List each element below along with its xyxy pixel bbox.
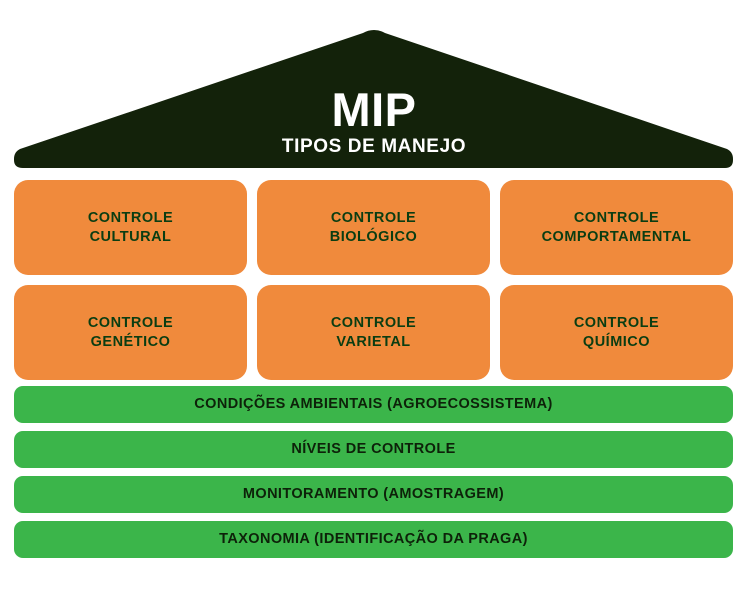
bar-label: TAXONOMIA (IDENTIFICAÇÃO DA PRAGA) [219,532,528,548]
mip-infographic: MIP TIPOS DE MANEJO CONTROLE CULTURAL CO… [0,0,748,600]
card-label: CONTROLE COMPORTAMENTAL [542,209,692,247]
card-label: CONTROLE BIOLÓGICO [330,209,417,247]
card-controle-varietal[interactable]: CONTROLE VARIETAL [257,285,490,380]
bar-taxonomia[interactable]: TAXONOMIA (IDENTIFICAÇÃO DA PRAGA) [14,521,733,558]
card-label: CONTROLE QUÍMICO [574,314,659,352]
card-controle-comportamental[interactable]: CONTROLE COMPORTAMENTAL [500,180,733,275]
control-methods-row-1: CONTROLE CULTURAL CONTROLE BIOLÓGICO CON… [14,180,733,275]
bar-condicoes-ambientais[interactable]: CONDIÇÕES AMBIENTAIS (AGROECOSSISTEMA) [14,386,733,423]
roof-banner: MIP TIPOS DE MANEJO [0,30,748,168]
card-controle-quimico[interactable]: CONTROLE QUÍMICO [500,285,733,380]
bar-label: NÍVEIS DE CONTROLE [291,442,455,458]
bar-label: MONITORAMENTO (AMOSTRAGEM) [243,487,504,503]
foundation-stack: CONDIÇÕES AMBIENTAIS (AGROECOSSISTEMA) N… [14,386,733,558]
card-controle-cultural[interactable]: CONTROLE CULTURAL [14,180,247,275]
bar-niveis-de-controle[interactable]: NÍVEIS DE CONTROLE [14,431,733,468]
control-methods-grid: CONTROLE CULTURAL CONTROLE BIOLÓGICO CON… [14,180,733,380]
card-controle-genetico[interactable]: CONTROLE GENÉTICO [14,285,247,380]
card-label: CONTROLE GENÉTICO [88,314,173,352]
bar-label: CONDIÇÕES AMBIENTAIS (AGROECOSSISTEMA) [194,397,552,413]
roof-shape-icon [0,30,748,168]
card-controle-biologico[interactable]: CONTROLE BIOLÓGICO [257,180,490,275]
card-label: CONTROLE CULTURAL [88,209,173,247]
control-methods-row-2: CONTROLE GENÉTICO CONTROLE VARIETAL CONT… [14,285,733,380]
bar-monitoramento[interactable]: MONITORAMENTO (AMOSTRAGEM) [14,476,733,513]
card-label: CONTROLE VARIETAL [331,314,416,352]
